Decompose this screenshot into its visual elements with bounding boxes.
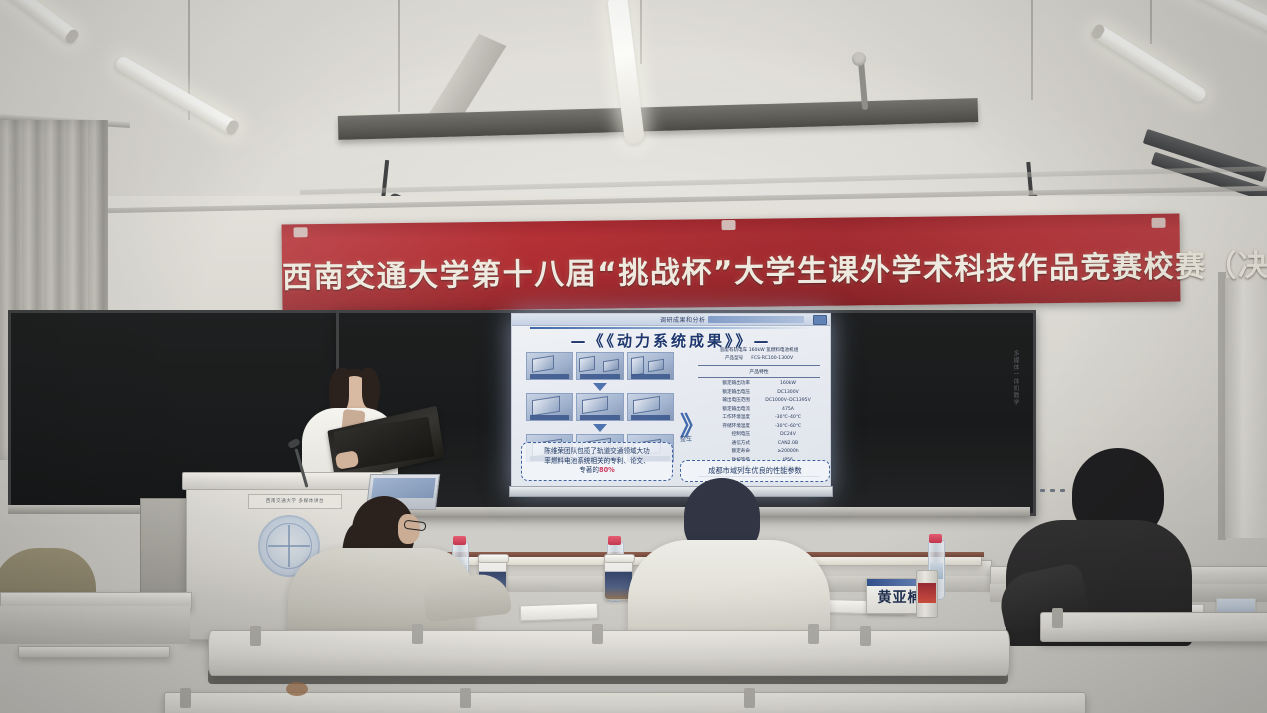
- beverage-can: [916, 570, 938, 618]
- callout-left-highlight: 80%: [599, 466, 615, 474]
- side-desk-left-shelf: [18, 646, 170, 658]
- callout-left-line3: 专著的80%: [525, 466, 669, 476]
- presenter-hair-left: [329, 368, 349, 412]
- spec-row-value: -30℃–60℃: [756, 423, 820, 431]
- spec-row: 额定输出电压DC1300V: [698, 389, 820, 397]
- banner-tack: [294, 227, 308, 237]
- podium-desktop: [182, 472, 384, 490]
- hanger-rod: [640, 0, 642, 64]
- spec-row-key: 控制电压: [698, 431, 756, 439]
- hanger-rod: [398, 0, 400, 112]
- bottle-cap: [929, 534, 942, 543]
- can-label: [918, 583, 936, 603]
- classroom-scene: 西南交通大学第十八届“挑战杯”大学生课外学术科技作品竞赛校赛（决赛） 多媒体一体…: [0, 0, 1267, 713]
- panel-control-button[interactable]: [1050, 489, 1055, 492]
- spec-row-key: 工作环境温度: [698, 414, 756, 422]
- spec-row: 额定输出电流475A: [698, 406, 820, 414]
- titlebar-strip: [708, 316, 804, 323]
- bench-bracket: [808, 624, 819, 644]
- image-grid-row: [526, 393, 674, 421]
- spec-row-key: 额定寿命: [698, 448, 756, 456]
- bench-row-middle[interactable]: [208, 630, 1010, 676]
- spec-model-value: FCS-RC100-1300V: [751, 355, 793, 363]
- bench-bracket: [860, 626, 871, 646]
- spec-row: 控制电压DC24V: [698, 431, 820, 439]
- component-thumbnail: [526, 393, 573, 421]
- paper-stack: [520, 603, 599, 622]
- spec-section-label: 产品特性: [698, 368, 820, 375]
- bench-bracket: [460, 688, 471, 708]
- interactive-panel-bezel: [509, 486, 833, 497]
- callout-right: 成都市域列车优良的性能参数: [680, 460, 830, 482]
- flow-arrow-down-icon: [593, 383, 607, 391]
- door[interactable]: [1222, 278, 1267, 538]
- spec-row: 输出电压范围DC1000V–DC1395V: [698, 397, 820, 405]
- board-brand-label: 多媒体一体机教学: [1012, 350, 1019, 424]
- component-thumbnail: [627, 393, 674, 421]
- bottle-cap: [453, 536, 466, 545]
- spec-row-key: 额定输出电流: [698, 406, 756, 414]
- bench-scuff: [286, 682, 308, 696]
- banner-tack: [721, 220, 735, 230]
- hanger-rod: [1150, 0, 1152, 44]
- bench-bracket: [1052, 608, 1063, 628]
- component-thumbnail: [526, 352, 573, 380]
- spec-row: 工作环境温度-30℃–40℃: [698, 414, 820, 422]
- callout-left-line2: 率燃料电池系统相关的专利、论文、: [525, 457, 669, 467]
- spec-row-key: 输出电压范围: [698, 397, 756, 405]
- laptop-screen: [371, 478, 435, 498]
- bench-bracket: [412, 624, 423, 644]
- titlebar-button[interactable]: [813, 315, 827, 325]
- bench-row-right[interactable]: [1040, 612, 1267, 642]
- spec-divider: [698, 377, 820, 378]
- component-thumbnail: [576, 352, 623, 380]
- chalk-tray: [336, 507, 1030, 516]
- spec-row-value: DC1000V–DC1395V: [756, 397, 820, 405]
- flow-arrow-down-icon: [593, 424, 607, 432]
- spec-model-label: 产品型号: [725, 355, 743, 363]
- presentation-titlebar-text: 调研成果和分析: [660, 315, 706, 324]
- spec-row: 通信方式CAN2.0B: [698, 440, 820, 448]
- judge-left-arm: [422, 572, 512, 623]
- spec-row-key: 通信方式: [698, 440, 756, 448]
- spec-row-value: 160kW: [756, 380, 820, 388]
- cup-lid: [478, 554, 509, 563]
- event-banner: 西南交通大学第十八届“挑战杯”大学生课外学术科技作品竞赛校赛（决赛）: [281, 214, 1180, 313]
- panel-control-button[interactable]: [1040, 489, 1045, 492]
- spec-row-value: -30℃–40℃: [756, 414, 820, 422]
- bench-bracket: [592, 624, 603, 644]
- image-grid-row: [526, 352, 674, 380]
- spec-row-value: 475A: [756, 406, 820, 414]
- cup-lid: [604, 554, 635, 563]
- side-desk-left-front: [0, 606, 190, 644]
- slide-header-rule: [530, 327, 812, 329]
- bottle-cap: [608, 536, 621, 545]
- component-thumbnail: [576, 393, 623, 421]
- panel-control-button[interactable]: [1060, 489, 1065, 492]
- spec-divider: [698, 365, 820, 366]
- hanger-rod: [1031, 0, 1033, 100]
- component-thumbnail: [627, 352, 674, 380]
- spec-table-header-line1: 氢能有轨电车 160kW 氢燃料电池机组: [698, 348, 820, 355]
- spec-row-value: DC24V: [756, 431, 820, 439]
- bench-row-front[interactable]: [164, 692, 1086, 713]
- spec-row-value: ≥20000h: [756, 448, 820, 456]
- beam-mount-knob: [852, 52, 866, 66]
- callout-left-line3-prefix: 专著的: [579, 466, 599, 474]
- spec-table-model-row: 产品型号 FCS-RC100-1300V: [698, 355, 820, 363]
- bench-bracket: [180, 688, 191, 708]
- chevron-caption: 整车: [680, 434, 692, 443]
- banner-tack: [1151, 218, 1165, 228]
- spec-row-key: 额定输出电压: [698, 389, 756, 397]
- bench-bracket: [744, 688, 755, 708]
- spec-row-key: 额定输出功率: [698, 380, 756, 388]
- bench-bracket: [250, 626, 261, 646]
- spec-row-value: DC1300V: [756, 389, 820, 397]
- spec-row: 存储环境温度-30℃–60℃: [698, 423, 820, 431]
- callout-left: 陈维荣团队包揽了轨道交通领域大功 率燃料电池系统相关的专利、论文、 专著的80%: [521, 442, 673, 481]
- podium-label-plate: 西南交通大学 多媒体讲台: [248, 494, 342, 509]
- presenter-hair-right: [362, 368, 380, 408]
- presentation-titlebar: 调研成果和分析: [512, 314, 830, 326]
- projection-screen: 调研成果和分析 —《《动力系统成果》》—: [511, 313, 831, 495]
- callout-left-line1: 陈维荣团队包揽了轨道交通领域大功: [525, 447, 669, 457]
- spec-row: 额定输出功率160kW: [698, 380, 820, 388]
- spec-row: 额定寿命≥20000h: [698, 448, 820, 456]
- spec-row-value: CAN2.0B: [756, 440, 820, 448]
- spec-row-key: 存储环境温度: [698, 423, 756, 431]
